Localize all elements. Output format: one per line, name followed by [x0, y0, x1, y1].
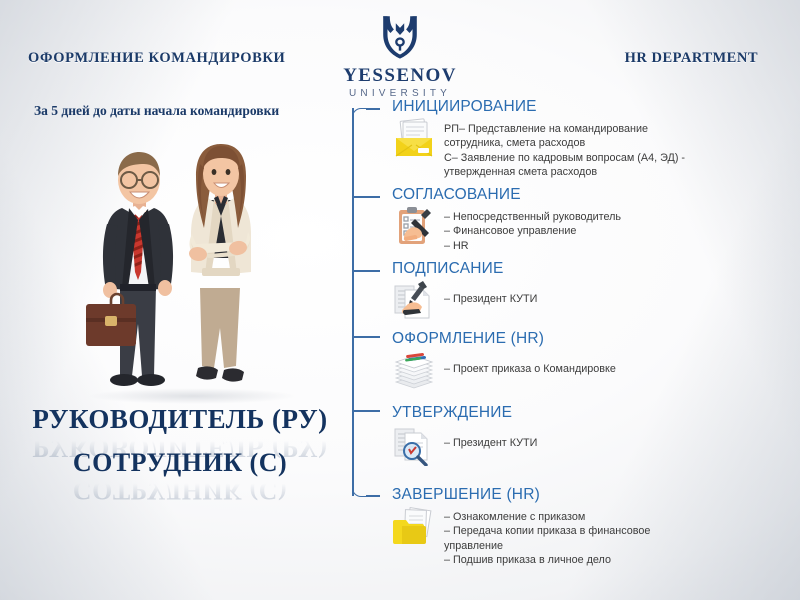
step-line: – Проект приказа о Командировке — [444, 362, 616, 376]
step-line: – Финансовое управление — [444, 224, 621, 238]
step-title: УТВЕРЖДЕНИЕ — [392, 404, 537, 422]
timeline-corner-bottom — [352, 482, 367, 497]
bottom-title-employee-text: СОТРУДНИК (С) — [73, 448, 287, 477]
timeline-branch-5 — [352, 410, 380, 412]
university-logo: YESSENOV UNIVERSITY — [334, 14, 466, 99]
workflow-step-completion[interactable]: ЗАВЕРШЕНИЕ (HR) – Ознакомл — [392, 486, 650, 567]
step-title: ОФОРМЛЕНИЕ (HR) — [392, 330, 616, 348]
step-line: – Президент КУТИ — [444, 292, 537, 306]
step-line: – Президент КУТИ — [444, 436, 537, 450]
workflow-step-approval[interactable]: СОГЛАСОВАНИЕ — [392, 186, 621, 253]
step-line: – Непосредственный руководитель — [444, 210, 621, 224]
envelope-with-documents-icon — [392, 118, 436, 160]
step-description: РП– Представление на командирование сотр… — [444, 118, 685, 179]
clipboard-checklist-hand-icon — [392, 206, 436, 248]
step-title: ИНИЦИИРОВАНИЕ — [392, 98, 685, 116]
workflow-step-signing[interactable]: ПОДПИСАНИЕ — [392, 260, 537, 322]
step-description: – Президент КУТИ — [444, 280, 537, 306]
timeline-branch-2 — [352, 196, 380, 198]
paper-stack-with-pens-icon — [392, 350, 436, 392]
step-line: – Подшив приказа в личное дело — [444, 553, 650, 567]
step-description: – Ознакомление с приказом – Передача коп… — [444, 506, 650, 567]
step-line: – Передача копии приказа в финансовое — [444, 524, 650, 538]
yellow-folder-with-documents-icon — [392, 506, 436, 548]
step-line: С– Заявление по кадровым вопросам (А4, Э… — [444, 151, 685, 165]
step-description: – Президент КУТИ — [444, 424, 537, 450]
workflow-step-confirmation[interactable]: УТВЕРЖДЕНИЕ — [392, 404, 537, 466]
step-line: сотрудника, смета расходов — [444, 136, 685, 150]
step-line: – Ознакомление с приказом — [444, 510, 650, 524]
bottom-title-employee-reflection: СОТРУДНИК (С) — [0, 475, 360, 505]
bottom-title-manager-text: РУКОВОДИТЕЛЬ (РУ) — [32, 404, 327, 434]
timeline-branch-4 — [352, 336, 380, 338]
step-title: ЗАВЕРШЕНИЕ (HR) — [392, 486, 650, 504]
department-label: HR DEPARTMENT — [625, 50, 758, 67]
businessman-figure — [86, 152, 173, 386]
step-line: РП– Представление на командирование — [444, 122, 685, 136]
page-title: ОФОРМЛЕНИЕ КОМАНДИРОВКИ — [28, 50, 285, 67]
businessman-and-businesswoman-illustration — [72, 138, 292, 405]
timeline-spine — [352, 108, 354, 496]
timeline-corner-top — [352, 108, 367, 123]
workflow-step-initiation[interactable]: ИНИЦИИРОВАНИЕ — [392, 98, 685, 179]
businesswoman-figure — [188, 144, 251, 382]
step-title: СОГЛАСОВАНИЕ — [392, 186, 621, 204]
step-line: – HR — [444, 239, 621, 253]
bottom-title-employee: СОТРУДНИК (С) СОТРУДНИК (С) — [0, 448, 360, 505]
timeline-branch-3 — [352, 270, 380, 272]
workflow-timeline: ИНИЦИИРОВАНИЕ — [348, 98, 800, 590]
deadline-subtitle: За 5 дней до даты начала командировки — [34, 103, 279, 119]
document-signing-hand-pen-icon — [392, 280, 436, 322]
step-description: – Непосредственный руководитель – Финанс… — [444, 206, 621, 253]
yessenov-crest-icon — [334, 14, 466, 65]
workflow-step-processing[interactable]: ОФОРМЛЕНИЕ (HR) — [392, 330, 616, 392]
step-line: утвержденная смета расходов — [444, 165, 685, 179]
slide-canvas: ОФОРМЛЕНИЕ КОМАНДИРОВКИ HR DEPARTMENT За… — [0, 0, 800, 600]
timeline-branch-6 — [366, 495, 380, 497]
timeline-branch-1 — [366, 108, 380, 110]
step-description: – Проект приказа о Командировке — [444, 350, 616, 376]
logo-wordmark: YESSENOV — [334, 66, 466, 86]
step-title: ПОДПИСАНИЕ — [392, 260, 537, 278]
document-magnifier-icon — [392, 424, 436, 466]
step-line: управление — [444, 539, 650, 553]
